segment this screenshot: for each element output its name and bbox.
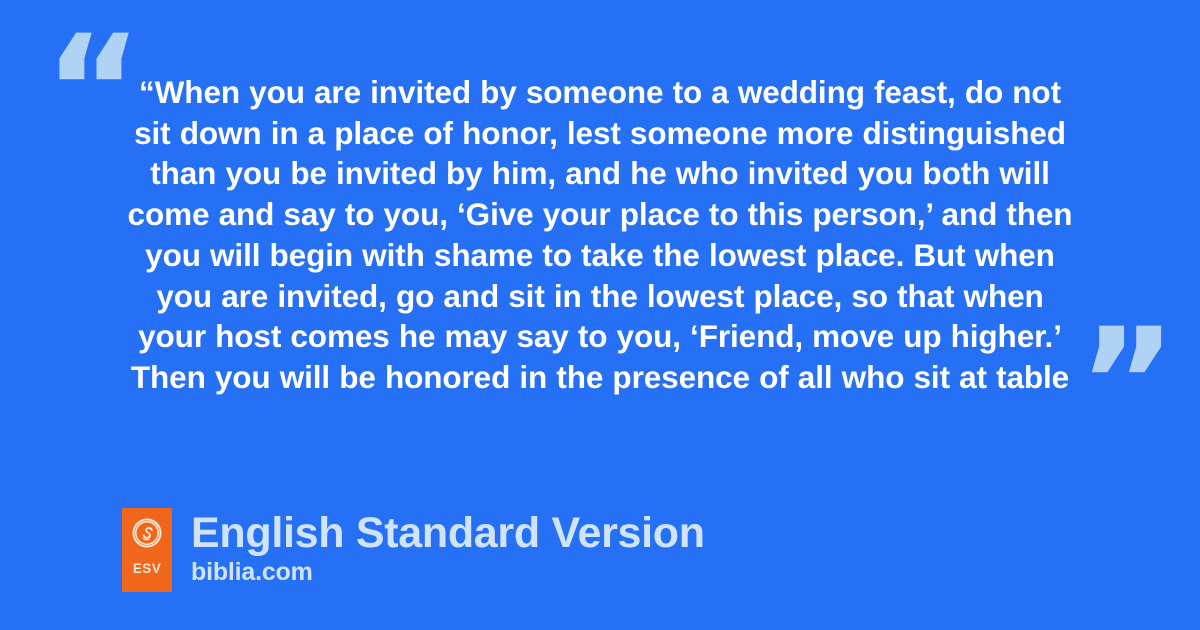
esv-seal-icon	[131, 517, 163, 549]
site-name: biblia.com	[191, 557, 705, 587]
closing-quote-mark-icon: ”	[1078, 309, 1177, 459]
bible-verse-card: “ “When you are invited by someone to a …	[0, 0, 1200, 630]
esv-badge: ESV	[122, 508, 172, 592]
attribution: ESV English Standard Version biblia.com	[122, 508, 705, 592]
esv-badge-label: ESV	[133, 562, 161, 576]
attribution-text: English Standard Version biblia.com	[191, 508, 705, 587]
quote-block: “When you are invited by someone to a we…	[120, 72, 1080, 398]
verse-text: “When you are invited by someone to a we…	[120, 72, 1080, 398]
bible-version-name: English Standard Version	[191, 509, 705, 557]
